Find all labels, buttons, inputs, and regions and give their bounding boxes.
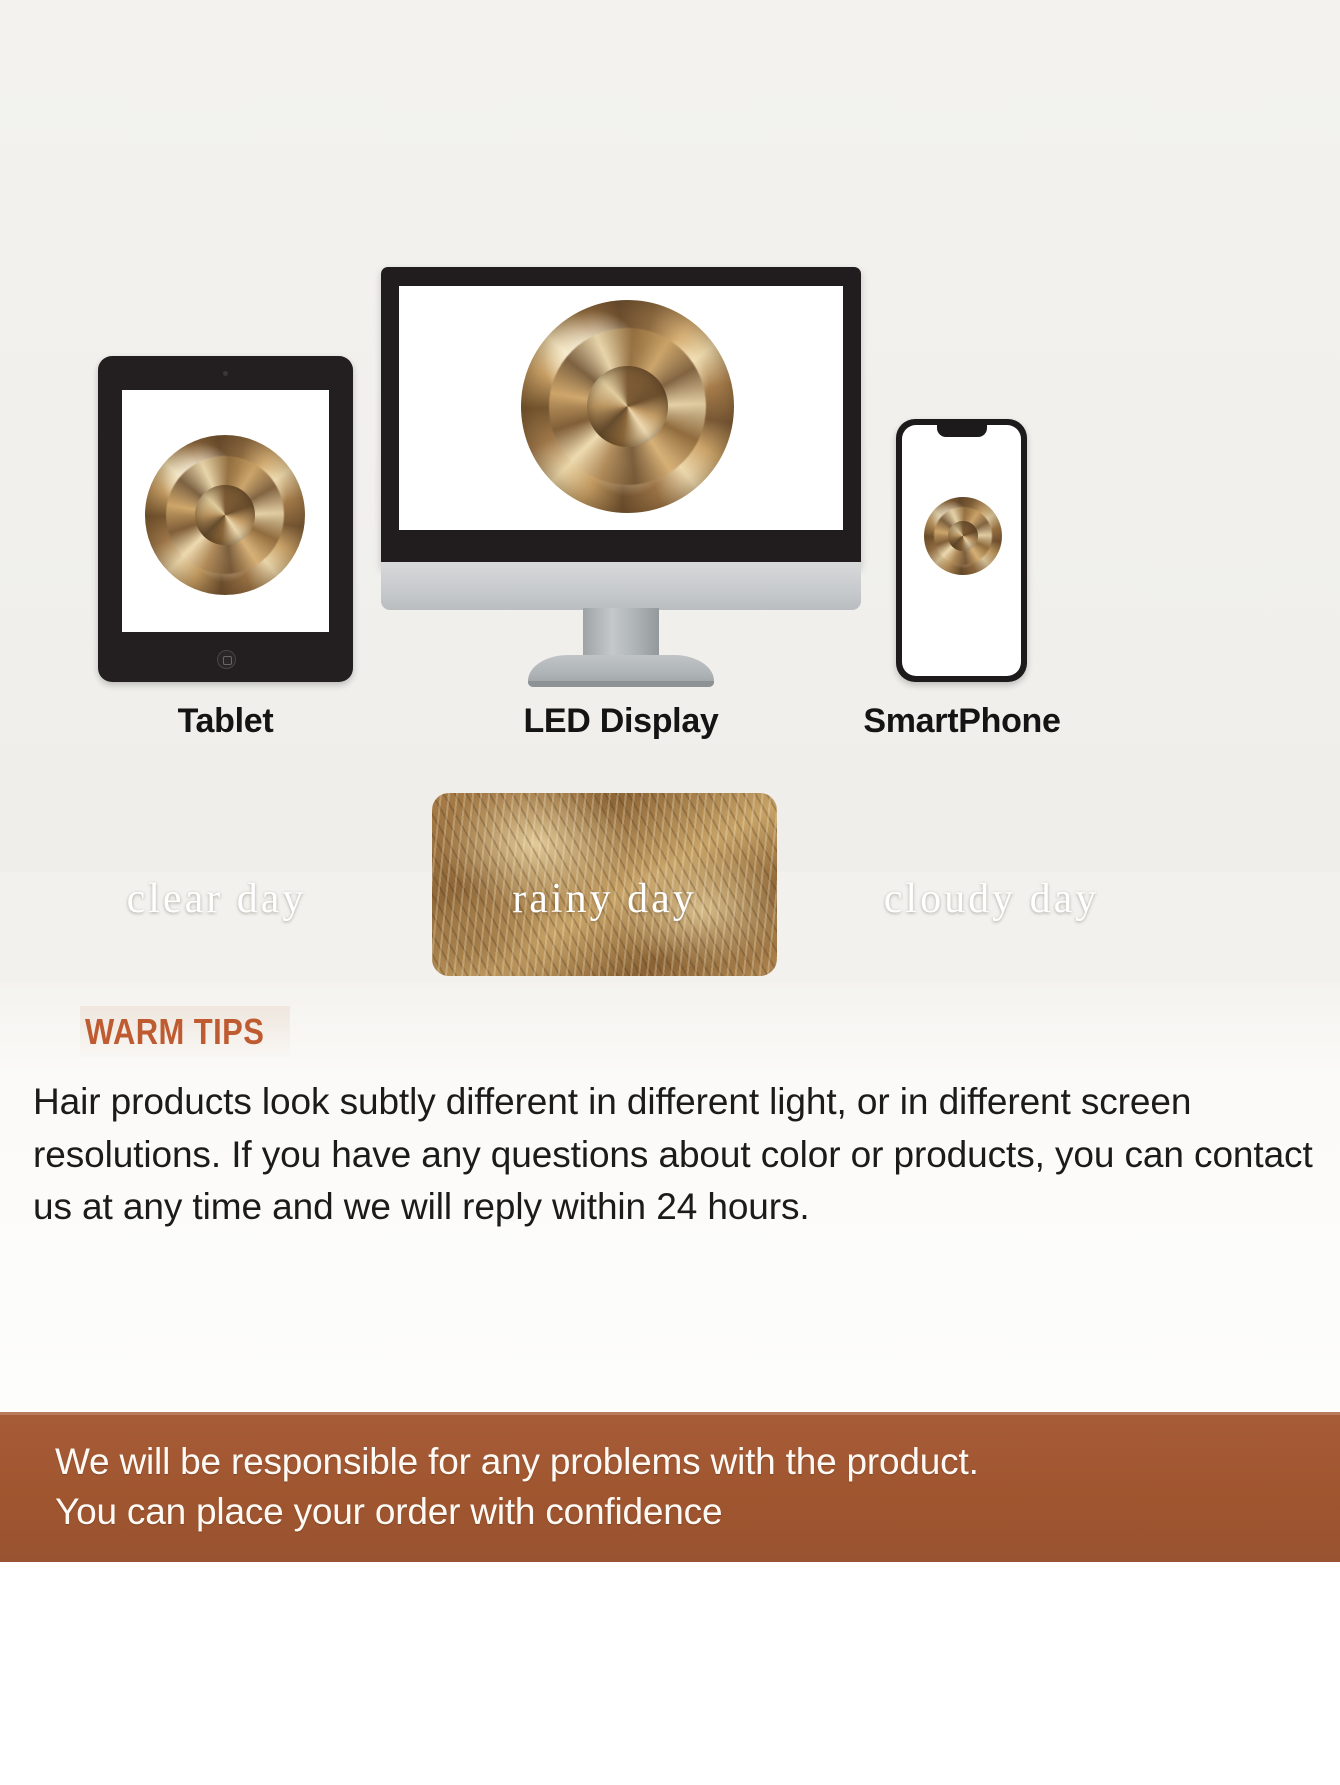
lighting-card-clear-day: clear day	[44, 793, 389, 976]
guarantee-banner-line-1: We will be responsible for any problems …	[55, 1441, 979, 1483]
tablet-device	[98, 356, 353, 682]
led-display-screen	[399, 286, 843, 530]
led-display-chin	[381, 562, 861, 610]
device-label-smartphone: SmartPhone	[836, 702, 1088, 741]
smartphone-screen	[902, 425, 1021, 676]
led-display-stand-base	[528, 655, 714, 687]
product-infographic: Tablet LED Display SmartPhone clear day …	[0, 0, 1340, 1785]
lighting-card-rainy-day: rainy day	[432, 793, 777, 976]
hair-bun-product-image	[924, 497, 1002, 575]
lighting-card-label: clear day	[44, 875, 389, 923]
device-showcase-section: Tablet LED Display SmartPhone	[0, 0, 1340, 872]
lighting-card-label: rainy day	[432, 875, 777, 923]
warm-tips-body-text: Hair products look subtly different in d…	[33, 1076, 1323, 1234]
device-label-tablet: Tablet	[98, 702, 353, 741]
tablet-screen	[122, 390, 329, 632]
lighting-comparison-row: clear day rainy day cloudy day	[0, 793, 1340, 983]
tablet-home-button-icon	[217, 650, 236, 669]
led-display-device	[381, 267, 861, 567]
lighting-card-label: cloudy day	[819, 875, 1164, 923]
hair-bun-product-image	[521, 300, 734, 513]
guarantee-banner: We will be responsible for any problems …	[0, 1412, 1340, 1562]
warm-tips-heading: WARM TIPS	[85, 1011, 264, 1053]
smartphone-device	[896, 419, 1027, 682]
footer-whitespace	[0, 1562, 1340, 1785]
guarantee-banner-line-2: You can place your order with confidence	[55, 1491, 722, 1533]
warm-tips-section: WARM TIPS Hair products look subtly diff…	[0, 983, 1340, 1412]
lighting-card-cloudy-day: cloudy day	[819, 793, 1164, 976]
smartphone-notch-icon	[937, 425, 987, 437]
hair-bun-product-image	[145, 435, 305, 595]
tablet-camera-icon	[223, 371, 228, 376]
device-label-led-display: LED Display	[381, 702, 861, 741]
